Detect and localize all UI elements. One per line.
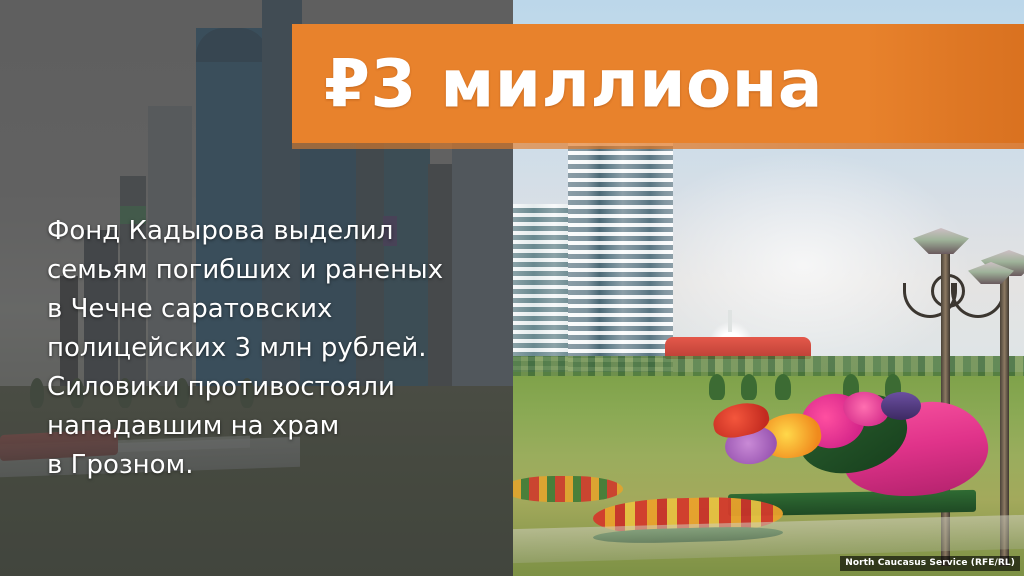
body-paragraph: Фонд Кадырова выделил семьям погибших и …: [47, 212, 467, 485]
body-line: нападавшим на храм: [47, 407, 467, 446]
hedge-shrub: [741, 374, 757, 400]
banner-underline: [292, 143, 1024, 149]
banner-shade: [864, 24, 1024, 143]
bouquet-flower: [881, 392, 921, 420]
body-line: Фонд Кадырова выделил: [47, 212, 467, 251]
photo-credit: North Caucasus Service (RFE/RL): [840, 556, 1020, 571]
infographic-card: ₽3 миллиона Фонд Кадырова выделил семьям…: [0, 0, 1024, 576]
flower-bed: [513, 476, 623, 502]
headline-text: ₽3 миллиона: [324, 45, 823, 122]
body-line: в Грозном.: [47, 446, 467, 485]
body-line: семьям погибших и раненых: [47, 251, 467, 290]
headline-banner: ₽3 миллиона: [292, 24, 1024, 143]
body-line: в Чечне саратовских: [47, 290, 467, 329]
body-line: полицейских 3 млн рублей.: [47, 329, 467, 368]
hedge-shrub: [775, 374, 791, 400]
hedge-shrub: [709, 374, 725, 400]
body-line: Силовики противостояли: [47, 368, 467, 407]
